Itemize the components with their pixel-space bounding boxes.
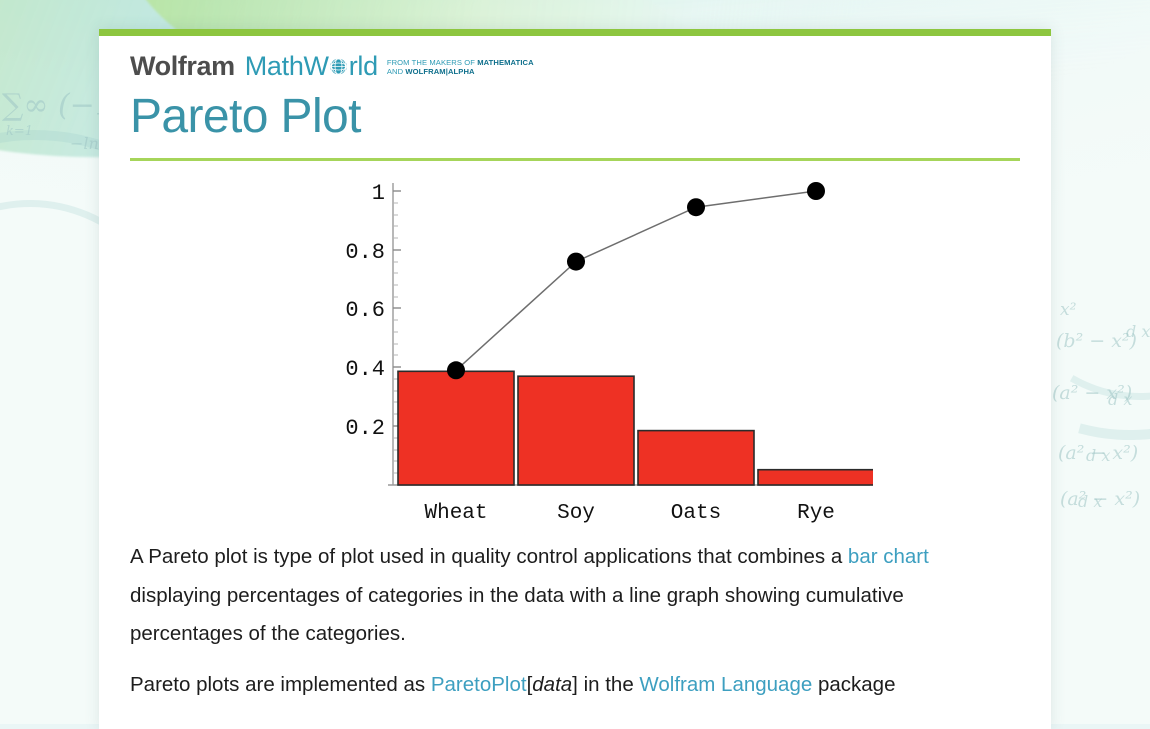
site-logo[interactable]: Wolfram MathW rld F xyxy=(130,36,1020,80)
x-category-label-wheat: Wheat xyxy=(424,502,487,523)
background-equation: x² xyxy=(1060,300,1076,320)
logo-math-text: Math xyxy=(245,53,304,80)
background-equation: (b² − x²) xyxy=(1056,330,1137,352)
tagline-line-1: FROM THE MAKERS OF MATHEMATICA xyxy=(387,58,534,67)
cumulative-line-series xyxy=(447,182,825,379)
y-tick-label: 0.2 xyxy=(345,416,385,441)
background-equation: d x xyxy=(1108,390,1132,409)
x-category-label-oats: Oats xyxy=(671,502,721,523)
paragraph-1-text-a: A Pareto plot is type of plot used in qu… xyxy=(130,545,848,568)
paragraph-2-text-b: in the xyxy=(578,673,640,696)
x-category-label-rye: Rye xyxy=(797,502,835,523)
cumulative-line xyxy=(456,191,816,370)
y-tick-label: 0.4 xyxy=(345,357,385,382)
cumulative-point-rye xyxy=(807,182,825,200)
paragraph-2-text-c: package xyxy=(812,673,895,696)
article-body: A Pareto plot is type of plot used in qu… xyxy=(130,538,1020,704)
bar-wheat xyxy=(398,371,514,485)
paragraph-definition: A Pareto plot is type of plot used in qu… xyxy=(130,538,1020,654)
paragraph-2-text-a: Pareto plots are implemented as xyxy=(130,673,431,696)
logo-mathworld-text: MathW rld xyxy=(245,53,378,80)
background-equation: −ln xyxy=(70,134,99,153)
paragraph-1-text-b: displaying percentages of categories in … xyxy=(130,584,904,646)
background-equation: d x xyxy=(1078,492,1102,511)
pareto-chart: 1 0.8 0.6 0.4 0.2 xyxy=(130,173,1020,523)
bar-oats xyxy=(638,431,754,485)
link-paretoplot[interactable]: ParetoPlot xyxy=(431,673,527,696)
bar-soy xyxy=(518,376,634,485)
logo-world-w: W xyxy=(304,53,329,80)
tagline-line2-prefix: AND xyxy=(387,67,406,76)
background-equation: k=1 xyxy=(6,124,33,139)
bar-series xyxy=(398,371,874,485)
y-tick-label: 0.6 xyxy=(345,298,385,323)
background-equation: d x xyxy=(1086,446,1110,465)
title-divider xyxy=(130,158,1020,161)
y-tick-label: 0.8 xyxy=(345,240,385,265)
pareto-plot-figure: 1 0.8 0.6 0.4 0.2 xyxy=(130,173,1020,523)
cumulative-point-soy xyxy=(567,253,585,271)
tagline-line1-prefix: FROM THE MAKERS OF xyxy=(387,58,477,67)
card-top-accent-bar xyxy=(99,29,1051,36)
cumulative-point-wheat xyxy=(447,361,465,379)
background-equation: d x xyxy=(1126,322,1150,341)
page-title: Pareto Plot xyxy=(130,89,1020,144)
link-wolfram-language[interactable]: Wolfram Language xyxy=(639,673,812,696)
logo-wolfram-text: Wolfram xyxy=(130,53,235,80)
link-bar-chart[interactable]: bar chart xyxy=(848,545,929,568)
cumulative-point-oats xyxy=(687,198,705,216)
tagline-mathematica: MATHEMATICA xyxy=(477,58,534,67)
logo-world-rld: rld xyxy=(349,53,378,80)
argument-data: data xyxy=(532,673,572,696)
tagline-line-2: AND WOLFRAM|ALPHA xyxy=(387,67,475,76)
tagline-wolfram-alpha: WOLFRAM|ALPHA xyxy=(405,67,474,76)
content-card: Wolfram MathW rld F xyxy=(99,29,1051,729)
paragraph-implementation: Pareto plots are implemented as ParetoPl… xyxy=(130,666,1020,705)
x-category-label-soy: Soy xyxy=(557,502,595,523)
globe-icon xyxy=(329,54,348,73)
logo-tagline: FROM THE MAKERS OF MATHEMATICA AND WOLFR… xyxy=(387,59,534,77)
bar-rye xyxy=(758,470,874,485)
y-tick-label: 1 xyxy=(372,181,385,206)
